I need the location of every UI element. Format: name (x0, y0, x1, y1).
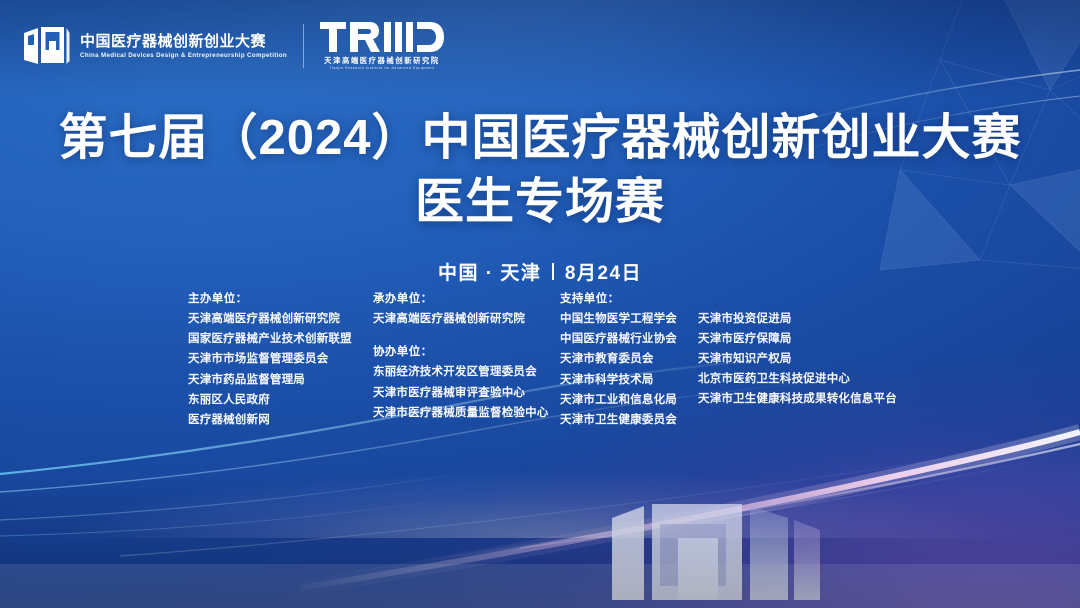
co-organizer-heading: 协办单位： (373, 342, 560, 362)
supporter-item: 天津市卫生健康科技成果转化信息平台 (698, 389, 900, 409)
host-item: 东丽区人民政府 (188, 390, 373, 410)
supporter-item: 天津市卫生健康委员会 (560, 410, 690, 430)
triid-logo-cn: 天津高端医疗器械创新研究院 (324, 57, 440, 64)
column-spacer (698, 289, 900, 309)
competition-logo-cn: 中国医疗器械创新创业大赛 (80, 34, 287, 49)
column-spacer (373, 329, 560, 342)
open-door-book-icon (22, 23, 70, 69)
supporter-item: 中国生物医学工程学会 (560, 309, 690, 329)
event-location: 中国 · 天津 (438, 258, 541, 285)
co-organizer-item: 天津市医疗器械质量监督检验中心 (373, 403, 560, 423)
supporter-item: 中国医疗器械行业协会 (560, 329, 690, 349)
supporter-heading: 支持单位： (560, 289, 690, 309)
host-item: 医疗器械创新网 (188, 410, 373, 430)
poster-title-block: 第七届（2024）中国医疗器械创新创业大赛 医生专场赛 中国 · 天津 8月24… (0, 110, 1080, 285)
competition-logo-en: China Medical Devices Design & Entrepren… (80, 53, 287, 60)
supporter-item: 天津市教育委员会 (560, 349, 690, 369)
triid-wordmark-icon (320, 22, 444, 52)
host-item: 天津高端医疗器械创新研究院 (188, 309, 373, 329)
host-item: 天津市药品监督管理局 (188, 370, 373, 390)
supporter-item: 北京市医药卫生科技促进中心 (698, 369, 900, 389)
supporter-column-b: 天津市投资促进局 天津市医疗保障局 天津市知识产权局 北京市医药卫生科技促进中心… (698, 289, 900, 430)
supporter-item: 天津市知识产权局 (698, 349, 900, 369)
co-organizer-item: 天津市医疗器械审评查验中心 (373, 383, 560, 403)
supporter-item: 天津市投资促进局 (698, 309, 900, 329)
host-heading: 主办单位： (188, 289, 373, 309)
organizer-credits: 主办单位： 天津高端医疗器械创新研究院 国家医疗器械产业技术创新联盟 天津市市场… (188, 289, 900, 430)
title-line-2: 医生专场赛 (0, 174, 1080, 232)
supporter-column-a: 支持单位： 中国生物医学工程学会 中国医疗器械行业协会 天津市教育委员会 天津市… (560, 289, 690, 430)
undertaker-column: 承办单位： 天津高端医疗器械创新研究院 协办单位： 东丽经济技术开发区管理委员会… (373, 289, 560, 423)
co-organizer-item: 东丽经济技术开发区管理委员会 (373, 362, 560, 382)
supporter-item: 天津市科学技术局 (560, 370, 690, 390)
competition-logo[interactable]: 中国医疗器械创新创业大赛 China Medical Devices Desig… (22, 23, 287, 69)
event-meta: 中国 · 天津 8月24日 (0, 258, 1080, 285)
host-item: 天津市市场监督管理委员会 (188, 349, 373, 369)
supporter-columns: 支持单位： 中国生物医学工程学会 中国医疗器械行业协会 天津市教育委员会 天津市… (560, 289, 900, 430)
undertaker-heading: 承办单位： (373, 289, 560, 309)
title-line-1: 第七届（2024）中国医疗器械创新创业大赛 (0, 110, 1080, 168)
supporter-item: 天津市工业和信息化局 (560, 390, 690, 410)
supporter-item: 天津市医疗保障局 (698, 329, 900, 349)
event-date: 8月24日 (565, 258, 642, 285)
header-logos: 中国医疗器械创新创业大赛 China Medical Devices Desig… (22, 22, 444, 71)
poster-canvas: 中国医疗器械创新创业大赛 China Medical Devices Desig… (0, 0, 1080, 608)
logo-divider (303, 24, 304, 68)
host-column: 主办单位： 天津高端医疗器械创新研究院 国家医疗器械产业技术创新联盟 天津市市场… (188, 289, 373, 430)
meta-separator (552, 263, 554, 280)
triid-logo-en: Tianjin Research Institute for Advanced … (329, 67, 434, 71)
undertaker-item: 天津高端医疗器械创新研究院 (373, 309, 560, 329)
triid-logo[interactable]: 天津高端医疗器械创新研究院 Tianjin Research Institute… (320, 22, 444, 71)
host-item: 国家医疗器械产业技术创新联盟 (188, 329, 373, 349)
